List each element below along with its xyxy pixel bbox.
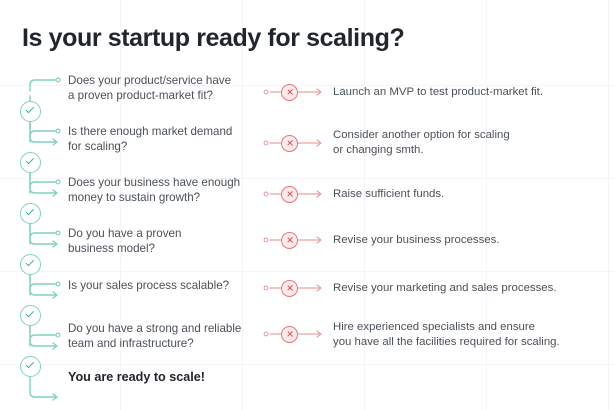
check-circle-icon <box>20 356 41 377</box>
outcome-text-6: Hire experienced specialists and ensure … <box>333 320 560 350</box>
question-text-3: Does your business have enough money to … <box>68 175 240 205</box>
outcome-text-3: Raise sufficient funds. <box>333 187 444 202</box>
outcome-text-1: Launch an MVP to test product-market fit… <box>333 85 543 100</box>
final-statement: You are ready to scale! <box>68 370 205 385</box>
fail-x-circle-icon <box>281 84 298 101</box>
page-title: Is your startup ready for scaling? <box>22 24 404 53</box>
check-circle-icon <box>20 203 41 224</box>
fail-x-circle-icon <box>281 186 298 203</box>
check-circle-icon <box>20 101 41 122</box>
question-text-6: Do you have a strong and reliable team a… <box>68 321 241 351</box>
outcome-text-2: Consider another option for scaling or c… <box>333 128 510 158</box>
question-text-2: Is there enough market demand for scalin… <box>68 124 232 154</box>
fail-x-circle-icon <box>281 280 298 297</box>
check-circle-icon <box>20 305 41 326</box>
question-text-5: Is your sales process scalable? <box>68 278 229 293</box>
check-circle-icon <box>20 152 41 173</box>
question-text-4: Do you have a proven business model? <box>68 226 181 256</box>
question-text-1: Does your product/service have a proven … <box>68 73 231 103</box>
check-circle-icon <box>20 254 41 275</box>
fail-x-circle-icon <box>281 326 298 343</box>
fail-x-circle-icon <box>281 135 298 152</box>
outcome-text-5: Revise your marketing and sales processe… <box>333 281 557 296</box>
fail-x-circle-icon <box>281 232 298 249</box>
outcome-text-4: Revise your business processes. <box>333 233 500 248</box>
infographic-canvas: Is your startup ready for scaling? <box>0 0 615 410</box>
